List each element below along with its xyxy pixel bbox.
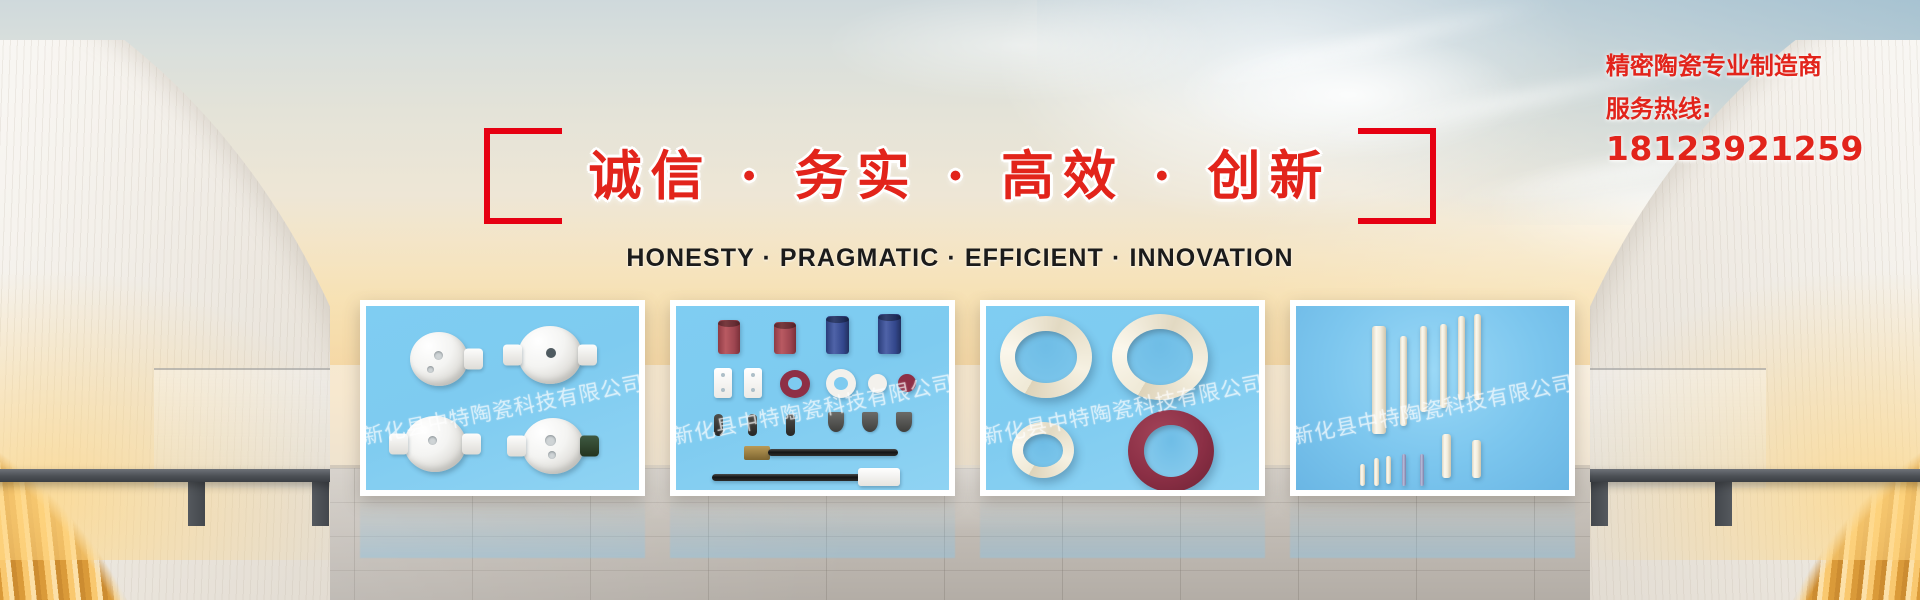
left-canopy-structure [0,40,330,600]
ceramic-cable [768,449,898,456]
ceramic-plate [714,368,732,398]
ceramic-tube [774,322,796,354]
ceramic-rod [1360,464,1365,486]
hotline-label: 服务热线: [1606,95,1864,124]
handrail [0,469,330,482]
product-panel[interactable]: 新化县中特陶瓷科技有限公司 [1290,300,1575,496]
cable-connector [744,446,770,460]
ceramic-rod [1458,316,1465,400]
product-panel[interactable]: 新化县中特陶瓷科技有限公司 [670,300,955,496]
ceramic-tube [826,316,849,354]
ceramic-ring-large [1000,316,1092,398]
promo-banner: 诚信 · 务实 · 高效 · 创新 HONESTY · PRAGMATIC · … [0,0,1920,600]
hotline-phone-number[interactable]: 18123921259 [1606,129,1864,169]
ceramic-blade [786,414,795,436]
cable-connector [858,468,900,486]
ceramic-rod [1472,440,1481,478]
image-watermark: 新化县中特陶瓷科技有限公司 [1296,367,1569,451]
product-panel[interactable]: 新化县中特陶瓷科技有限公司 [980,300,1265,496]
slogan-english: HONESTY · PRAGMATIC · EFFICIENT · INNOVA… [626,244,1293,273]
metal-clip [896,412,912,432]
ceramic-plate [744,368,762,398]
ceramic-components-image: 新化县中特陶瓷科技有限公司 [676,306,949,490]
slogan-chinese: 诚信 · 务实 · 高效 · 创新 [588,150,1331,203]
ceramic-ring [898,374,916,392]
ceramic-ring [780,370,810,398]
contact-block: 精密陶瓷专业制造商 服务热线: 18123921259 [1606,52,1864,169]
product-panel-row: 新化县中特陶瓷科技有限公司 [360,300,1575,496]
ceramic-rod [1420,454,1424,486]
ceramic-rod [1440,324,1447,408]
slogan-row: 诚信 · 务实 · 高效 · 创新 [484,128,1435,224]
manufacturer-tagline: 精密陶瓷专业制造商 [1606,52,1864,81]
ceramic-rod [1386,456,1391,484]
ceramic-socket [410,332,468,386]
ceramic-ring-large [1112,314,1208,400]
bracket-right-icon [1358,128,1436,224]
ceramic-ring-maroon [1128,410,1214,490]
handrail [1590,469,1920,482]
ceramic-rods-image: 新化县中特陶瓷科技有限公司 [1296,306,1569,490]
metal-clip [828,412,844,432]
ceramic-rod [1402,454,1406,486]
ceramic-ring [826,369,856,398]
ceramic-tube [718,320,740,354]
ceramic-rod [1372,326,1386,434]
ceramic-socket [404,416,466,472]
ceramic-cable [712,474,862,481]
ceramic-socket [518,326,582,384]
ceramic-rings-image: 新化县中特陶瓷科技有限公司 [986,306,1259,490]
product-panel[interactable]: 新化县中特陶瓷科技有限公司 [360,300,645,496]
ceramic-blade [714,414,723,436]
ceramic-rod [1442,434,1451,478]
ceramic-rod [1420,326,1427,412]
ceramic-rod [1400,336,1407,426]
ceramic-lamp-holders-image: 新化县中特陶瓷科技有限公司 [366,306,639,490]
ceramic-ring [868,374,887,393]
metal-clip [862,412,878,432]
ceramic-socket [522,418,584,474]
ceramic-blade [748,414,757,436]
ceramic-rod [1374,458,1379,486]
ceramic-rod [1474,314,1481,400]
ceramic-ring-small [1012,422,1074,478]
ceramic-tube [878,314,901,354]
bracket-left-icon [484,128,562,224]
